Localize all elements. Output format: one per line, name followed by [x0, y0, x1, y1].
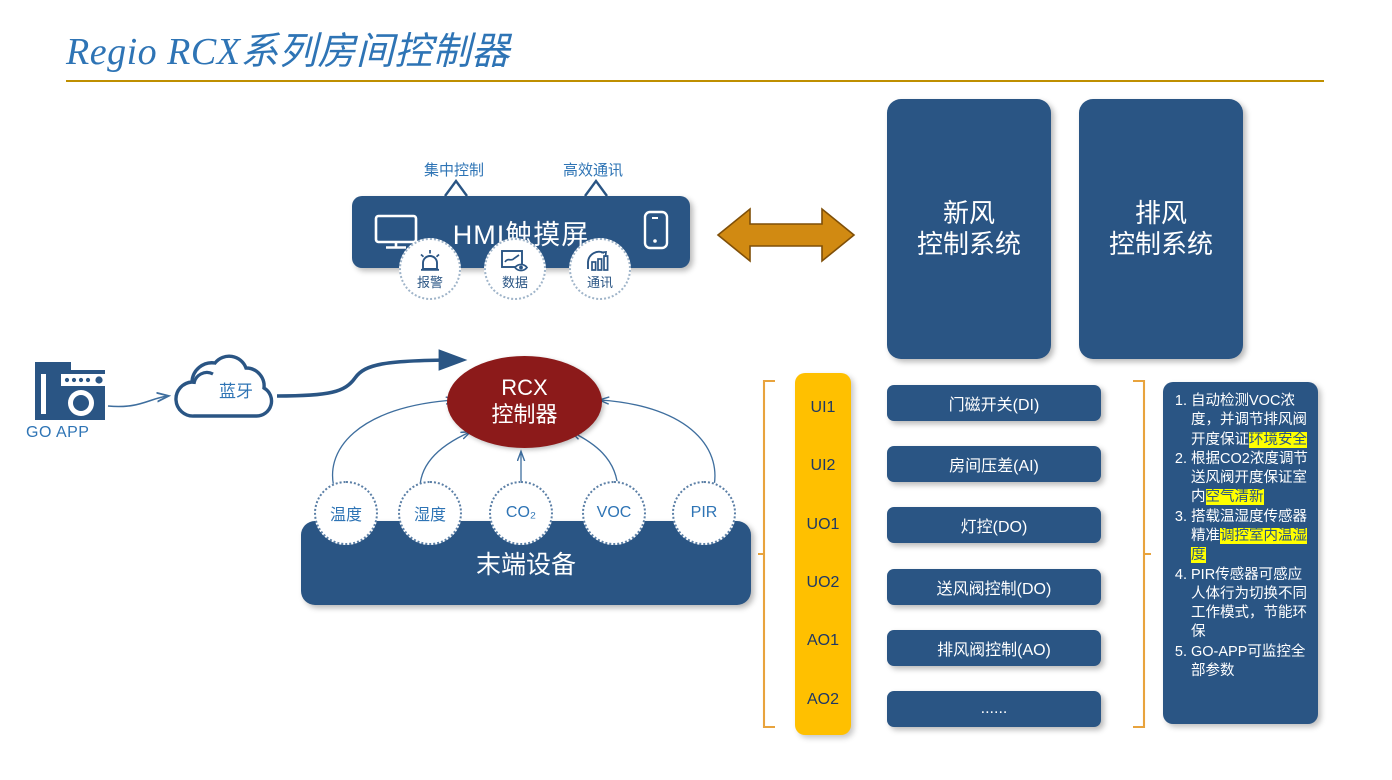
- sensor-co2[interactable]: CO₂: [489, 481, 553, 545]
- io-item-ao1: AO1: [807, 632, 839, 650]
- callout-centralized-control: 集中控制: [424, 159, 484, 180]
- function-box-door-contact-label: 门磁开关(DI): [949, 391, 1040, 415]
- exhaust-line2: 控制系统: [1109, 229, 1213, 260]
- badge-alarm[interactable]: 报警: [399, 238, 461, 300]
- badge-communication[interactable]: 通讯: [569, 238, 631, 300]
- io-points-column[interactable]: UI1 UI2 UO1 UO2 AO1 AO2: [795, 373, 851, 735]
- slide-canvas: Regio RCX系列房间控制器 集中控制 高效通讯: [0, 0, 1392, 780]
- title-divider: [66, 80, 1324, 82]
- rcx-controller-node[interactable]: RCX 控制器: [447, 356, 602, 448]
- function-box-exhaust-valve[interactable]: 排风阀控制(AO): [887, 630, 1101, 666]
- go-app-device-icon[interactable]: [34, 360, 106, 427]
- badge-alarm-label: 报警: [417, 272, 443, 291]
- function-box-more[interactable]: ......: [887, 691, 1101, 727]
- exhaust-control-system-panel[interactable]: 排风 控制系统: [1079, 99, 1243, 359]
- bar-chart-arrow-icon: [585, 249, 615, 273]
- io-item-uo2: UO2: [807, 574, 840, 592]
- badge-data[interactable]: 数据: [484, 238, 546, 300]
- function-box-exhaust-valve-label: 排风阀控制(AO): [937, 636, 1051, 660]
- function-box-supply-valve[interactable]: 送风阀控制(DO): [887, 569, 1101, 605]
- sensor-voc-label: VOC: [597, 504, 632, 522]
- fresh-air-line1: 新风: [917, 198, 1021, 229]
- badge-data-label: 数据: [502, 272, 528, 291]
- list-item: 根据CO2浓度调节送风阀开度保证室内空气清新: [1191, 450, 1310, 508]
- page-title: Regio RCX系列房间控制器: [66, 20, 510, 75]
- sensor-humidity[interactable]: 湿度: [398, 481, 462, 545]
- list-item: GO-APP可监控全部参数: [1191, 643, 1310, 682]
- function-box-more-label: ......: [981, 700, 1008, 718]
- fresh-air-line2: 控制系统: [917, 229, 1021, 260]
- feature-list-panel: 自动检测VOC浓度，并调节排风阀开度保证环境安全 根据CO2浓度调节送风阀开度保…: [1163, 382, 1318, 724]
- feature-4-text: PIR传感器可感应人体行为切换不同工作模式，节能环保: [1191, 567, 1307, 641]
- go-app-label: GO APP: [26, 424, 89, 442]
- io-item-ui1: UI1: [811, 399, 836, 417]
- list-item: 搭载温湿度传感器精准调控室内温湿度: [1191, 508, 1310, 566]
- function-box-room-pressure-label: 房间压差(AI): [949, 452, 1039, 476]
- function-box-supply-valve-label: 送风阀控制(DO): [937, 575, 1052, 599]
- io-item-uo1: UO1: [807, 516, 840, 534]
- function-box-room-pressure[interactable]: 房间压差(AI): [887, 446, 1101, 482]
- feature-5-text: GO-APP可监控全部参数: [1191, 644, 1305, 679]
- exhaust-line1: 排风: [1109, 198, 1213, 229]
- rcx-line1: RCX: [501, 375, 547, 402]
- feature-1-highlight: 环境安全: [1249, 432, 1307, 448]
- rcx-line2: 控制器: [491, 402, 557, 429]
- io-item-ui2: UI2: [811, 457, 836, 475]
- feature-2-highlight: 空气清新: [1206, 489, 1264, 505]
- callout-efficient-comm: 高效通讯: [563, 159, 623, 180]
- terminal-devices-label: 末端设备: [476, 545, 576, 581]
- sensor-temperature[interactable]: 温度: [314, 481, 378, 545]
- sensor-temperature-label: 温度: [330, 501, 362, 525]
- chart-eye-icon: [500, 249, 530, 273]
- sensor-voc[interactable]: VOC: [582, 481, 646, 545]
- sensor-pir-label: PIR: [691, 504, 718, 522]
- sensor-pir[interactable]: PIR: [672, 481, 736, 545]
- function-box-lighting[interactable]: 灯控(DO): [887, 507, 1101, 543]
- function-box-lighting-label: 灯控(DO): [961, 513, 1028, 537]
- feature-list: 自动检测VOC浓度，并调节排风阀开度保证环境安全 根据CO2浓度调节送风阀开度保…: [1167, 392, 1310, 681]
- phone-icon: [642, 210, 670, 259]
- bluetooth-cloud-label: 蓝牙: [190, 377, 282, 402]
- sensor-humidity-label: 湿度: [414, 501, 446, 525]
- io-item-ao2: AO2: [807, 691, 839, 709]
- alarm-siren-icon: [416, 249, 444, 273]
- list-item: 自动检测VOC浓度，并调节排风阀开度保证环境安全: [1191, 392, 1310, 450]
- function-box-door-contact[interactable]: 门磁开关(DI): [887, 385, 1101, 421]
- sensor-co2-label: CO₂: [506, 504, 536, 522]
- list-item: PIR传感器可感应人体行为切换不同工作模式，节能环保: [1191, 566, 1310, 643]
- double-headed-arrow-icon: [716, 204, 856, 271]
- fresh-air-control-system-panel[interactable]: 新风 控制系统: [887, 99, 1051, 359]
- badge-communication-label: 通讯: [587, 272, 613, 291]
